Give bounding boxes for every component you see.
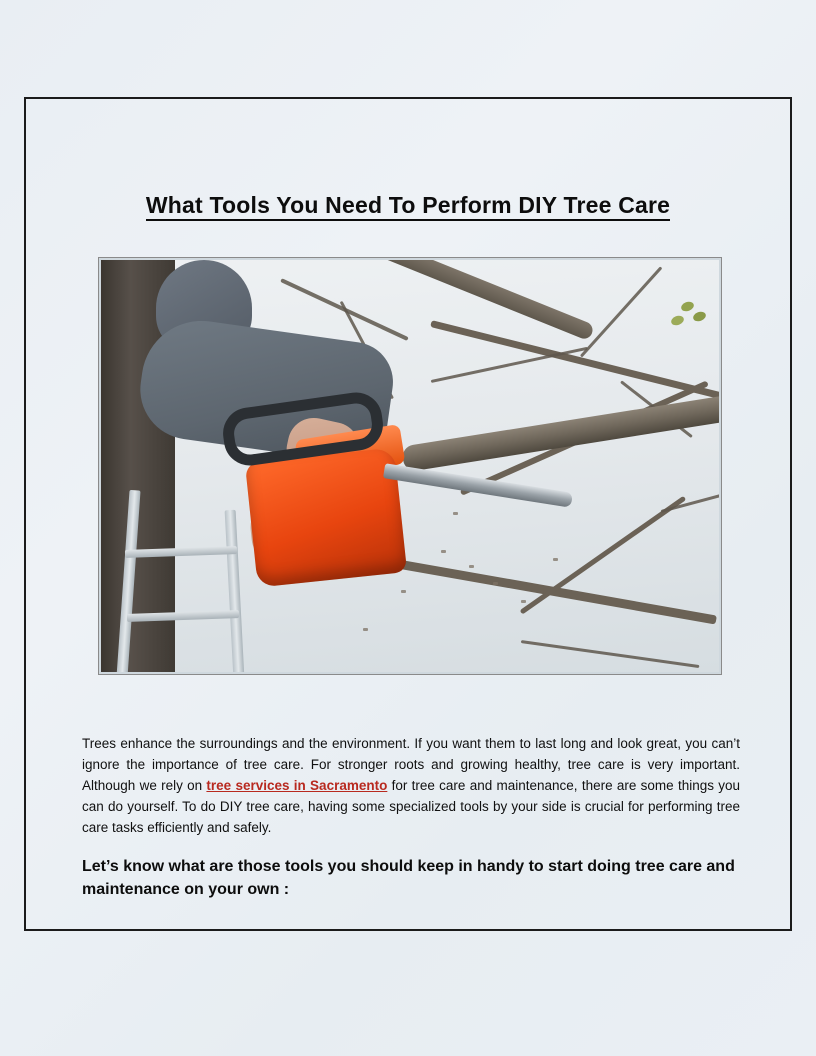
closing-statement: Let’s know what are those tools you shou…	[82, 855, 740, 901]
sawdust-chip	[493, 582, 498, 585]
hero-image-frame	[98, 257, 722, 675]
sawdust-chip	[401, 590, 406, 593]
sawdust-chip	[441, 550, 446, 553]
sawdust-chip	[363, 628, 368, 631]
tree-services-sacramento-link[interactable]: tree services in Sacramento	[206, 778, 387, 793]
sawdust-chip	[469, 565, 474, 568]
sawdust-chip	[453, 512, 458, 515]
sawdust-chip	[521, 600, 526, 603]
document-page-border: What Tools You Need To Perform DIY Tree …	[24, 97, 792, 931]
intro-paragraph: Trees enhance the surroundings and the e…	[82, 733, 740, 838]
sawdust-chip	[553, 558, 558, 561]
hero-image	[101, 260, 719, 672]
chainsaw-body-icon	[245, 448, 407, 588]
page-title: What Tools You Need To Perform DIY Tree …	[26, 192, 790, 219]
page-title-text: What Tools You Need To Perform DIY Tree …	[146, 192, 670, 221]
